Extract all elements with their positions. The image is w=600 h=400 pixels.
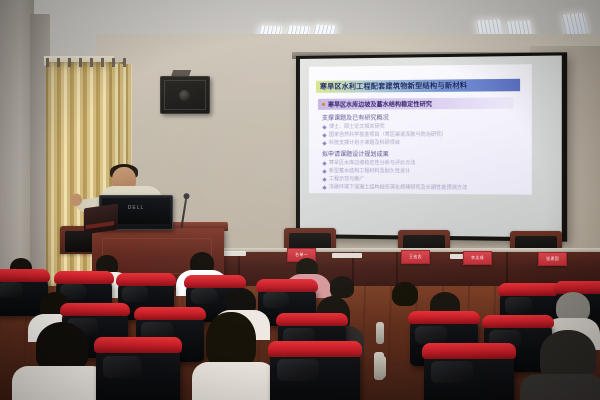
slide-bullet-text: 博士、硕士论文相关研究 xyxy=(329,124,385,130)
seat-headrest xyxy=(94,337,182,353)
audience-person-head xyxy=(540,330,596,380)
audience-person-head xyxy=(206,312,256,368)
slide-bullet-item: 国家自然科学基金项目（寒区渠道冻胀与防治研究） xyxy=(320,131,522,137)
audience-person-shoulders xyxy=(192,362,276,400)
bullet-square-icon xyxy=(322,178,326,182)
slide-bullet-text: 冻融环境下混凝土结构损伤演化规律研究及长期性能预测方法 xyxy=(329,184,513,191)
slide-title: 寒旱区水利工程配套建筑物新型结构与新材料 xyxy=(316,79,467,93)
slide-bullet-text: 新型蓄水结构工程材料及耐久性设计 xyxy=(329,168,410,174)
slide-highlight-band: 寒旱区水库边坡及蓄水结构稳定性研究 xyxy=(318,97,514,109)
seat-headrest xyxy=(422,343,516,359)
name-placard: 王宏志 xyxy=(401,250,430,264)
seat-headrest xyxy=(256,279,318,292)
monitor-brand-label: DELL xyxy=(128,205,145,211)
slide-bullet-text: 寒旱区水库边坡稳定性分析与评价方法 xyxy=(329,160,415,166)
presentation-slide: 寒旱区水利工程配套建筑物新型结构与新材料 寒旱区水库边坡及蓄水结构稳定性研究 支… xyxy=(309,64,532,194)
seat-headrest xyxy=(498,283,562,296)
seat-headrest xyxy=(276,313,348,326)
slide-highlight-text: 寒旱区水库边坡及蓄水结构稳定性研究 xyxy=(328,99,432,109)
bullet-dot-icon xyxy=(322,103,325,106)
table-paper xyxy=(332,253,362,258)
placard-label: 张建国 xyxy=(546,256,559,262)
audience-seat xyxy=(270,350,360,400)
ceiling-light-panel xyxy=(562,13,588,35)
seat-armrest xyxy=(376,322,384,344)
bullet-square-icon xyxy=(322,125,326,129)
seat-headrest xyxy=(184,275,246,288)
slide-section-heading: 拟申请课题设计规划成果 xyxy=(322,149,522,158)
conference-room-photo: 寒旱区水利工程配套建筑物新型结构与新材料 寒旱区水库边坡及蓄水结构稳定性研究 支… xyxy=(0,0,600,400)
seat-headrest xyxy=(116,273,176,286)
seat-headrest xyxy=(408,311,480,324)
audience-person-shoulders xyxy=(12,366,108,400)
seat-headrest xyxy=(54,271,114,284)
bullet-square-icon xyxy=(322,186,326,190)
bullet-square-icon xyxy=(322,169,326,173)
placard-label: 李志成 xyxy=(471,255,484,261)
projection-screen: 寒旱区水利工程配套建筑物新型结构与新材料 寒旱区水库边坡及蓄水结构稳定性研究 支… xyxy=(296,52,567,241)
slide-bullet-item: 博士、硕士论文相关研究 xyxy=(320,123,522,130)
audience-seat xyxy=(96,346,180,400)
seat-headrest xyxy=(268,341,362,357)
slide-bullet-item: 冻融环境下混凝土结构损伤演化规律研究及长期性能预测方法 xyxy=(320,184,522,191)
slide-bullet-text: 工程示范与推广 xyxy=(329,176,364,182)
seat-armrest xyxy=(374,352,384,380)
speaker-cone-icon xyxy=(179,90,190,101)
curtain-rings xyxy=(46,58,126,67)
bullet-square-icon xyxy=(322,141,326,145)
wall-speaker xyxy=(160,76,210,114)
projection-screen-surface: 寒旱区水利工程配套建筑物新型结构与新材料 寒旱区水库边坡及蓄水结构稳定性研究 支… xyxy=(300,55,562,237)
name-placard: 张建国 xyxy=(538,252,567,266)
bullet-square-icon xyxy=(322,161,326,165)
audience-person-head xyxy=(330,276,354,298)
audience-seat xyxy=(424,352,514,400)
slide-title-bar: 寒旱区水利工程配套建筑物新型结构与新材料 xyxy=(316,79,520,93)
left-wall-pier xyxy=(0,0,34,290)
seat-headrest xyxy=(0,269,50,282)
slide-bullet-text: 国家自然科学基金项目（寒区渠道冻胀与防治研究） xyxy=(329,132,447,138)
podium-laptop xyxy=(84,204,118,235)
slide-body: 支撑课题及已有研究概况 博士、硕士论文相关研究 国家自然科学基金项目（寒区渠道冻… xyxy=(320,112,522,194)
name-placard: 李志成 xyxy=(463,251,492,265)
audience-person-head xyxy=(36,322,88,370)
slide-bullet-item: 新型蓄水结构工程材料及耐久性设计 xyxy=(320,168,522,175)
seat-headrest xyxy=(482,315,554,328)
slide-bullet-text: 科技支撑计划子课题及科研项目 xyxy=(329,140,400,146)
seat-headrest xyxy=(60,303,130,316)
audience-person-head xyxy=(392,282,418,306)
seat-headrest xyxy=(134,307,206,320)
slide-bullet-item: 工程示范与推广 xyxy=(320,176,522,183)
slide-section-heading: 支撑课题及已有研究概况 xyxy=(322,112,522,122)
slide-bullet-item: 寒旱区水库边坡稳定性分析与评价方法 xyxy=(320,160,522,167)
audience-person-shoulders xyxy=(520,374,600,400)
bullet-square-icon xyxy=(322,133,326,137)
placard-label: 王宏志 xyxy=(409,254,422,260)
slide-bullet-item: 科技支撑计划子课题及科研项目 xyxy=(320,140,522,146)
